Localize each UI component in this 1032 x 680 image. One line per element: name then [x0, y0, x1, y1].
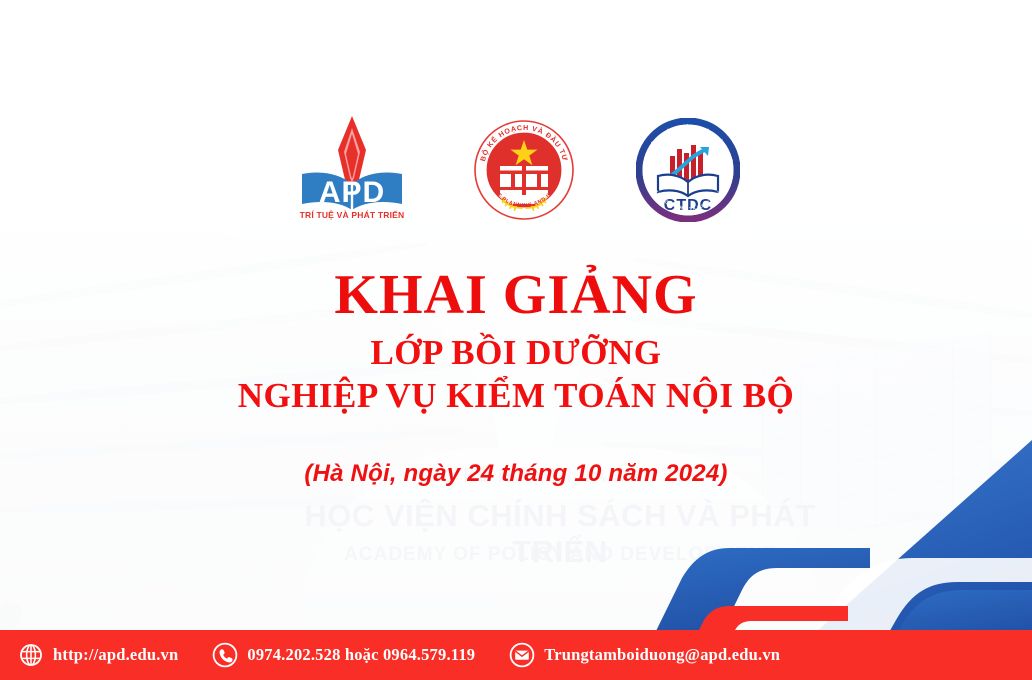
logo-row: APD TRÍ TUỆ VÀ PHÁT TRIỂN — [0, 110, 1032, 225]
title-block: KHAI GIẢNG LỚP BỒI DƯỠNG NGHIỆP VỤ KIỂM … — [0, 264, 1032, 488]
footer-email-item[interactable]: Trungtamboiduong@apd.edu.vn — [509, 642, 780, 668]
footer-website-item[interactable]: http://apd.edu.vn — [18, 642, 178, 668]
mpi-logo: BỘ KẾ HOẠCH VÀ ĐẦU TƯ MINISTRY OF PLANNI… — [472, 118, 572, 218]
subtitle-line-2: NGHIỆP VỤ KIỂM TOÁN NỘI BỘ — [0, 374, 1032, 418]
footer-phone-item[interactable]: 0974.202.528 hoặc 0964.579.119 — [212, 642, 475, 668]
envelope-icon — [509, 642, 535, 668]
phone-icon — [212, 642, 238, 668]
footer-email-text: Trungtamboiduong@apd.edu.vn — [544, 645, 780, 665]
ctdc-seal-icon: CTDC HỌC VIỆN CHÍNH SÁCH VÀ PHÁT TRIỂN T… — [636, 118, 740, 222]
footer-phone-text: 0974.202.528 hoặc 0964.579.119 — [247, 645, 475, 665]
ctdc-logo: CTDC HỌC VIỆN CHÍNH SÁCH VÀ PHÁT TRIỂN T… — [636, 118, 736, 218]
contact-footer-bar: http://apd.edu.vn 0974.202.528 hoặc 0964… — [0, 630, 1032, 680]
mpi-seal-icon: BỘ KẾ HOẠCH VÀ ĐẦU TƯ MINISTRY OF PLANNI… — [472, 118, 576, 222]
footer-website-text: http://apd.edu.vn — [53, 645, 178, 665]
apd-logo-icon: APD — [296, 112, 408, 224]
poster-canvas: BỘ KẾ HOẠCH VÀ ĐẦU TƯ HỌC VIỆN CHÍNH SÁC… — [0, 0, 1032, 680]
globe-icon — [18, 642, 44, 668]
subtitle-line-1: LỚP BỒI DƯỠNG — [0, 332, 1032, 374]
apd-tagline: TRÍ TUỆ VÀ PHÁT TRIỂN — [296, 210, 408, 220]
event-date: (Hà Nội, ngày 24 tháng 10 năm 2024) — [0, 460, 1032, 488]
main-title: KHAI GIẢNG — [0, 264, 1032, 326]
apd-logo: APD TRÍ TUỆ VÀ PHÁT TRIỂN — [296, 112, 408, 224]
svg-text:APD: APD — [319, 176, 385, 209]
